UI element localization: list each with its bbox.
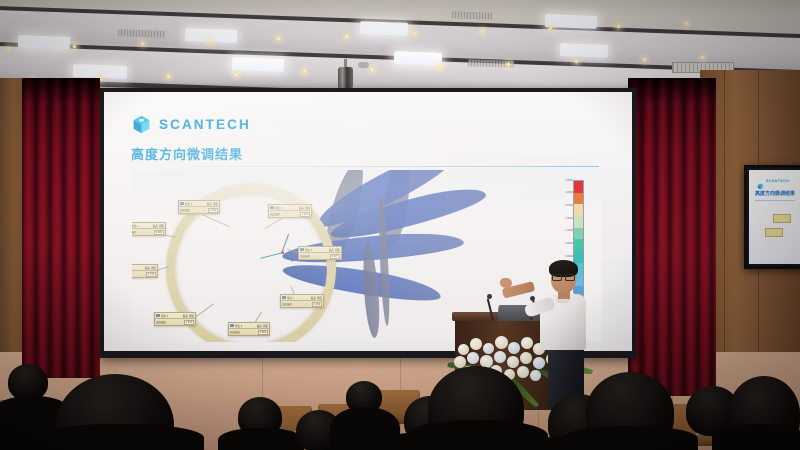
ceiling-projector [338,59,353,89]
callout-value: 0.981 [258,330,268,335]
callout-value: 1.215 [184,320,194,325]
ceiling-panel-light [560,43,608,58]
audience-shoulders [34,424,204,450]
callout-field-b: 测量 [159,224,164,228]
callout-label: 测点 5 [161,314,168,318]
callout-value: 0.877 [330,254,340,259]
colorbar-tick: 4.0000 [565,191,573,194]
smoke-detector-icon [358,62,369,68]
colorbar-segment [574,216,583,228]
measurement-callout[interactable]: 测点 1 偏差 测量 高度偏差 1.002 [178,200,220,214]
conference-hall-photo: SCANTECH 高度方向微调结果 [0,0,800,450]
colorbar-tick: 3.0000 [565,204,573,207]
callout-marker-icon [230,324,234,327]
side-monitor-title: 高度方向微调结果 [755,190,795,197]
scantech-cube-icon [757,177,764,184]
callout-row-label: 高度偏差 [300,254,310,259]
colorbar-segment [574,239,583,251]
colorbar-tick: 1.0000 [565,229,573,232]
slide-title: 高度方向微调结果 [131,144,243,163]
stage-curtain-left [22,78,100,378]
side-monitor-logo: SCANTECH [757,177,789,184]
callout-row-label: 高度偏差 [132,230,136,235]
callout-label: 测点 8 [305,248,312,252]
callout-field-a: 偏差 [183,314,188,318]
callout-field-b: 测量 [263,324,268,328]
colorbar-segment [574,251,583,263]
callout-value: 0.896 [154,230,164,235]
callout-field-b: 测量 [189,314,194,318]
callout-field-a: 偏差 [145,266,150,270]
callout-field-b: 测量 [151,266,156,270]
callout-row-label: 高度偏差 [180,208,190,213]
microphone-head-icon [530,296,535,301]
callout-value: 1.002 [208,208,218,213]
audience-shoulders [218,428,304,450]
callout-field-b: 测量 [317,296,322,300]
scantech-logo: SCANTECH [131,114,251,135]
scantech-cube-icon [131,114,152,135]
side-monitor-divider [755,200,795,201]
colorbar-segment [574,193,583,205]
measurement-callout[interactable]: 测点 2 偏差 测量 高度偏差 0.896 [132,222,166,236]
callout-marker-icon [156,314,160,317]
callout-label: 测点 1 [185,202,192,206]
colorbar-segment [574,228,583,240]
colorbar-tick: 0.0000 [565,255,573,258]
ceiling-panel-light [232,57,284,72]
side-monitor-callout [765,228,783,237]
colorbar-segment [574,204,583,216]
title-divider [194,166,599,167]
callout-field-b: 测量 [213,202,218,206]
scantech-wordmark: SCANTECH [159,117,251,132]
audience-shoulders [712,424,800,450]
callout-row-label: 高度偏差 [230,330,240,335]
callout-marker-icon [300,248,304,251]
callout-marker-icon [270,206,274,209]
callout-value: 0.742 [146,272,156,277]
side-monitor-callout [773,214,791,223]
callout-field-a: 偏差 [329,248,334,252]
callout-field-a: 偏差 [153,224,158,228]
callout-label: 测点 6 [235,324,242,328]
callout-label: 测点 3 [275,206,282,210]
presenter-glasses-icon [552,274,574,279]
callout-marker-icon [282,296,286,299]
presenter-hand-pointing [500,278,512,288]
callout-field-a: 偏差 [207,202,212,206]
measurement-callout[interactable]: 测点 5 偏差 测量 高度偏差 1.215 [154,312,196,326]
ceiling-panel-light [394,51,442,66]
callout-row-label: 高度偏差 [156,320,166,325]
colorbar-tick: 5.0000 [565,179,573,182]
callout-label: 测点 2 [132,224,138,228]
callout-marker-icon [180,202,184,205]
callout-field-b: 测量 [335,248,340,252]
measurement-callout[interactable]: 测点 3 偏差 测量 高度偏差 1.103 [268,204,312,218]
callout-value: 1.103 [300,212,310,217]
stage-curtain-right [628,78,716,396]
callout-label: 测点 7 [287,296,294,300]
measurement-callout[interactable]: 测点 4 偏差 测量 高度偏差 0.742 [132,264,158,278]
callout-value: 1.054 [312,302,322,307]
microphone-head-icon [487,294,492,299]
callout-field-a: 偏差 [299,206,304,210]
ceiling-panel-light [360,21,408,36]
audience-head [8,364,48,400]
audience-shoulders [562,426,698,450]
colorbar-tick: 0.5000 [565,242,573,245]
ceiling-panel-light [18,35,70,50]
measurement-callout[interactable]: 测点 7 偏差 测量 高度偏差 1.054 [280,294,324,308]
callout-row-label: 高度偏差 [270,212,280,217]
callout-field-a: 偏差 [257,324,262,328]
callout-field-a: 偏差 [311,296,316,300]
colorbar-segment [574,181,583,193]
colorbar-tick: 2.0000 [565,217,573,220]
side-monitor-wordmark: SCANTECH [766,179,789,183]
callout-field-b: 测量 [305,206,310,210]
measurement-callout[interactable]: 测点 8 偏差 测量 高度偏差 0.877 [298,246,342,260]
side-monitor-screen: SCANTECH 高度方向微调结果 [749,170,800,264]
measurement-callout[interactable]: 测点 6 偏差 测量 高度偏差 0.981 [228,322,270,336]
side-monitor: SCANTECH 高度方向微调结果 [744,165,800,269]
callout-row-label: 高度偏差 [282,302,292,307]
